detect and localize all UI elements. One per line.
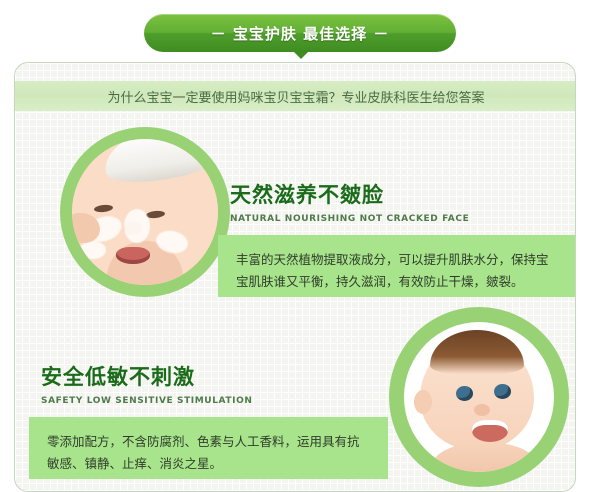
baby-photo-smile-ring (389, 307, 569, 487)
smiling-baby-mouth (472, 420, 508, 442)
smiling-baby-nose (474, 404, 490, 416)
subheader-text: 为什么宝宝一定要使用妈咪宝贝宝宝霜？专业皮肤科医生给您答案 (107, 87, 484, 106)
baby-photo-cream-ring (60, 127, 230, 297)
top-banner: － 宝宝护肤 最佳选择 － (0, 14, 600, 64)
smiling-baby-eye-right (494, 384, 511, 399)
section-2-description-box: 零添加配方，不含防腐剂、色素与人工香料，运用具有抗敏感、镇静、止痒、消炎之星。 (29, 417, 388, 479)
smiling-baby-body (432, 442, 538, 472)
smiling-baby-illustration (416, 328, 542, 472)
smiling-baby-ear (414, 390, 432, 414)
smiling-baby-eye-left (456, 386, 473, 401)
baby-photo-cream (72, 139, 218, 285)
baby-photo-smile (404, 322, 554, 472)
banner-title: － 宝宝护肤 最佳选择 － (211, 23, 390, 44)
section-2-heading: 安全低敏不刺激 SAFETY LOW SENSITIVE STIMULATION (41, 361, 253, 406)
cream-smear-chin (80, 241, 106, 259)
section-1-title-cn: 天然滋养不皴脸 (230, 179, 469, 209)
baby-mouth (116, 247, 150, 264)
baby-hat (101, 139, 215, 187)
section-1-description: 丰富的天然植物提取液成分，可以提升肌肤水分，保持宝宝肌肤谁又平衡，持久滋润，有效… (236, 249, 559, 293)
cream-smear-cheek-right (154, 228, 190, 256)
baby-eye-left (94, 204, 114, 213)
banner-notch-triangle (293, 51, 309, 59)
section-1-description-box: 丰富的天然植物提取液成分，可以提升肌肤水分，保持宝宝肌肤谁又平衡，持久滋润，有效… (218, 235, 576, 297)
cream-smear-nose (124, 209, 150, 243)
banner-pill: － 宝宝护肤 最佳选择 － (144, 14, 456, 52)
section-2-description: 零添加配方，不含防腐剂、色素与人工香料，运用具有抗敏感、镇静、止痒、消炎之星。 (47, 431, 370, 475)
content-card: 为什么宝宝一定要使用妈咪宝贝宝宝霜？专业皮肤科医生给您答案 天然滋养不皴脸 NA… (14, 62, 576, 492)
subheader-band: 为什么宝宝一定要使用妈咪宝贝宝宝霜？专业皮肤科医生给您答案 (15, 81, 576, 111)
baby-hand (72, 213, 100, 243)
baby-face-illustration (72, 139, 218, 285)
section-2-title-cn: 安全低敏不刺激 (41, 361, 253, 391)
section-1-title-en: NATURAL NOURISHING NOT CRACKED FACE (230, 214, 469, 224)
section-1-heading: 天然滋养不皴脸 NATURAL NOURISHING NOT CRACKED F… (230, 179, 469, 224)
smiling-baby-hair (430, 330, 524, 374)
section-2-title-en: SAFETY LOW SENSITIVE STIMULATION (41, 396, 253, 406)
